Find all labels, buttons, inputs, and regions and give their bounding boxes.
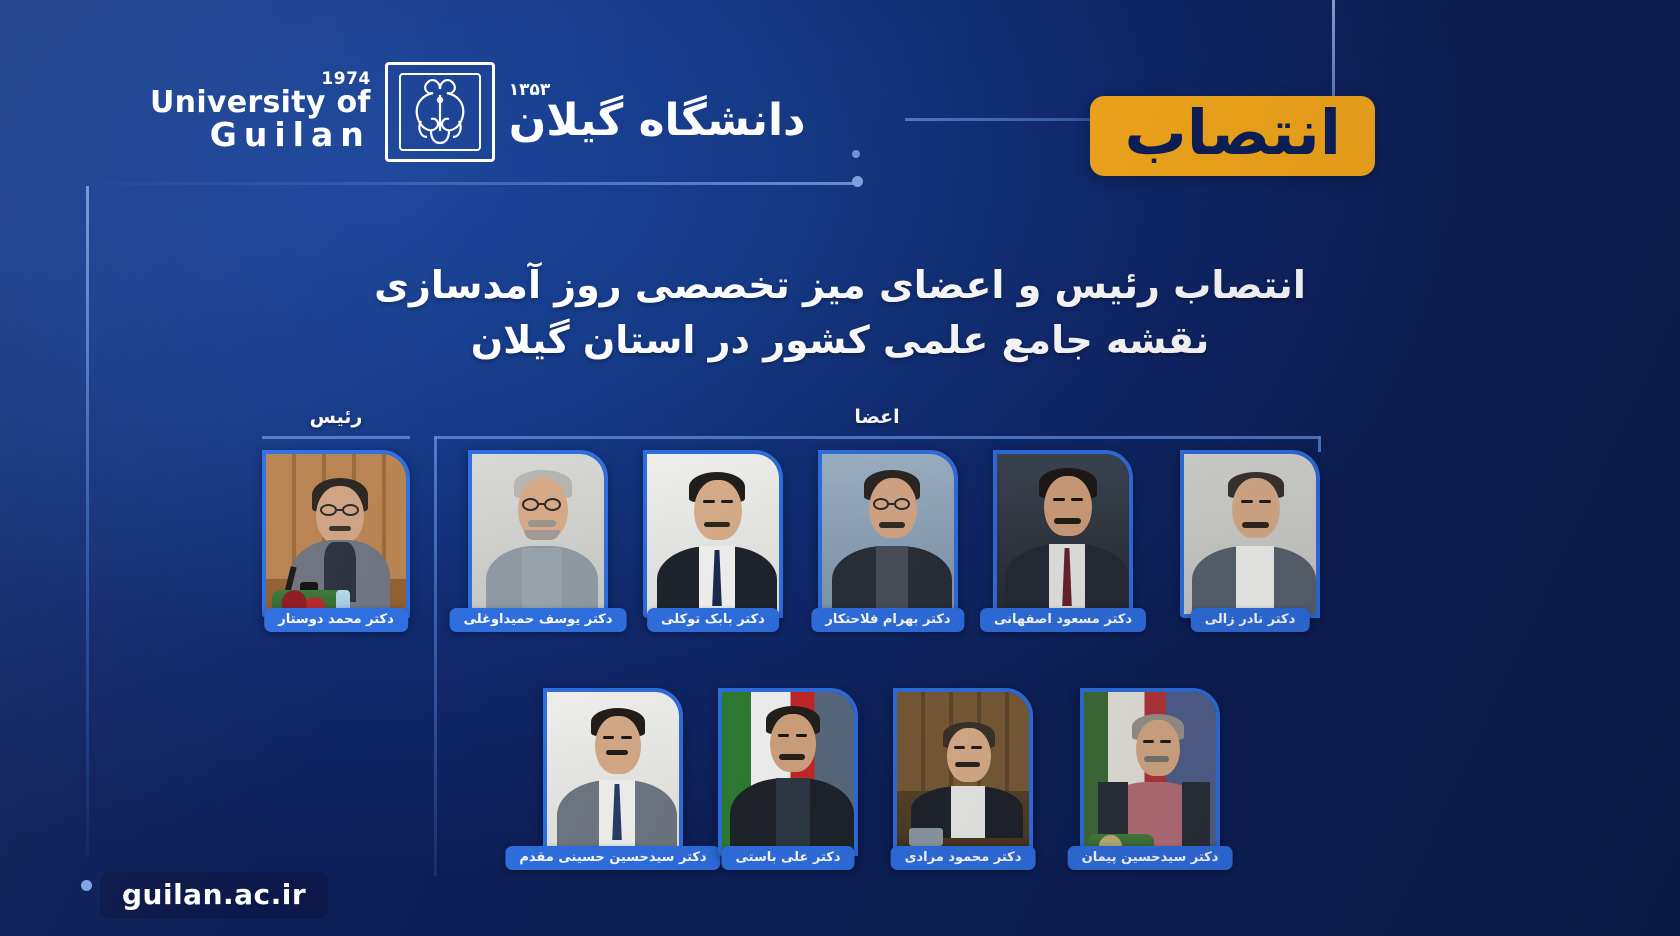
logo-english-text: 1974 University of Guilan [150,71,371,153]
person-name-member-6: دکتر سیدحسین حسینی مقدم [505,846,720,870]
page-title: انتصاب رئیس و اعضای میز تخصصی روز آمدساز… [0,258,1680,368]
person-card-member-7[interactable]: دکتر علی باستی [718,688,858,856]
section-label-members: اعضا [434,406,1320,428]
person-name-member-3: دکتر بهرام فلاحتکار [811,608,964,632]
photo-frame [468,450,608,618]
person-name-member-9: دکتر سیدحسین پیمان [1068,846,1233,870]
portrait-photo-member-8 [897,692,1029,852]
photo-frame [818,450,958,618]
appointment-badge: انتصاب [1090,96,1375,176]
portrait-photo-member-6 [547,692,679,852]
photo-frame [1080,688,1220,856]
person-card-member-4[interactable]: دکتر مسعود اصفهانی [993,450,1133,618]
person-card-chair[interactable]: دکتر محمد دوستار [262,450,410,618]
decoration-bracket-members-left [434,436,437,876]
photo-frame [893,688,1033,856]
decoration-dot-left-rail [81,880,92,891]
photo-frame [262,450,410,618]
portrait-photo-member-5 [1184,454,1316,614]
person-name-member-7: دکتر علی باستی [721,846,854,870]
person-card-member-8[interactable]: دکتر محمود مرادی [893,688,1033,856]
person-card-member-1[interactable]: دکتر یوسف حمیداوغلی [468,450,608,618]
portrait-photo-member-2 [647,454,779,614]
person-name-member-5: دکتر نادر زالی [1191,608,1310,632]
photo-frame [1180,450,1320,618]
portrait-photo-chair [266,454,406,614]
portrait-photo-member-7 [722,692,854,852]
decoration-bracket-chair [262,436,410,439]
person-card-member-9[interactable]: دکتر سیدحسین پیمان [1080,688,1220,856]
header: 1974 University of Guilan [0,0,1680,200]
title-line-2: نقشه جامع علمی کشور در استان گیلان [0,313,1680,368]
logo-persian-text: ۱۳۵۳ دانشگاه گیلان [509,82,806,143]
person-card-member-6[interactable]: دکتر سیدحسین حسینی مقدم [543,688,683,856]
section-label-chair: رئیس [262,406,410,428]
university-logo: 1974 University of Guilan [150,62,806,162]
decoration-bracket-members-top [434,436,1320,439]
logo-line2-en: Guilan [150,118,371,153]
person-card-member-2[interactable]: دکتر بابک توکلی [643,450,783,618]
person-name-chair: دکتر محمد دوستار [264,608,408,632]
photo-frame [993,450,1133,618]
person-name-member-4: دکتر مسعود اصفهانی [980,608,1146,632]
guilan-university-emblem-icon [385,62,495,162]
person-card-member-5[interactable]: دکتر نادر زالی [1180,450,1320,618]
person-card-member-3[interactable]: دکتر بهرام فلاحتکار [818,450,958,618]
portrait-photo-member-4 [997,454,1129,614]
logo-line1-en: University of [150,87,371,119]
photo-frame [643,450,783,618]
website-badge[interactable]: guilan.ac.ir [100,872,328,919]
poster-canvas: 1974 University of Guilan [0,0,1680,936]
title-line-1: انتصاب رئیس و اعضای میز تخصصی روز آمدساز… [0,258,1680,313]
photo-frame [543,688,683,856]
portrait-photo-member-9 [1084,692,1216,852]
person-name-member-8: دکتر محمود مرادی [891,846,1036,870]
person-name-member-2: دکتر بابک توکلی [647,608,779,632]
portrait-photo-member-1 [472,454,604,614]
photo-frame [718,688,858,856]
logo-name-fa: دانشگاه گیلان [509,99,806,143]
person-name-member-1: دکتر یوسف حمیداوغلی [450,608,627,632]
portrait-photo-member-3 [822,454,954,614]
